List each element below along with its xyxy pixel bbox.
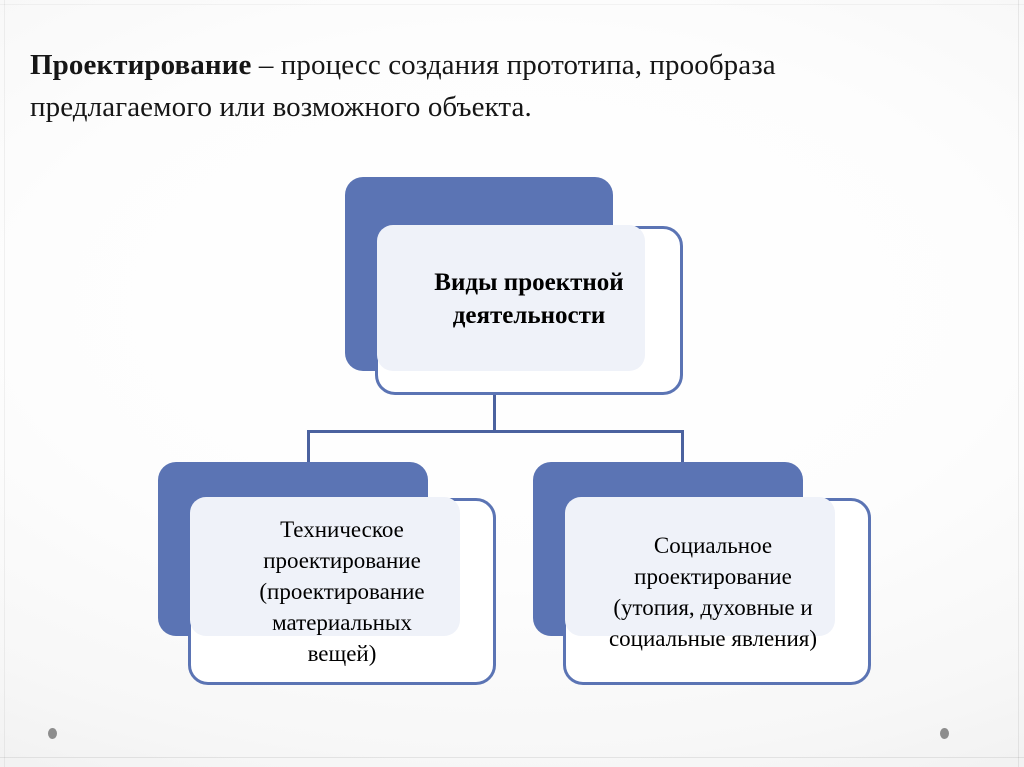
diagram-node-social-label: Социальное проектирование (утопия, духов… [555,500,871,683]
diagram-node-technical[interactable]: Техническое проектирование (проектирован… [158,462,500,689]
slide-heading: Проектирование – процесс создания протот… [30,44,830,128]
slide-canvas: Проектирование – процесс создания протот… [0,0,1024,767]
slide-frame-right-edge [1018,0,1019,767]
nav-dot-previous-icon[interactable] [48,728,57,739]
connector-drop-left [307,430,310,464]
slide-frame-top-edge [0,4,1024,5]
diagram-node-root[interactable]: Виды проектной деятельности [345,177,690,402]
diagram-node-root-label: Виды проектной деятельности [379,227,679,371]
nav-dot-next-icon[interactable] [940,728,949,739]
slide-frame-bottom-edge [0,757,1024,758]
connector-drop-right [681,430,684,464]
connector-horizontal-bar [307,430,684,433]
heading-term: Проектирование [30,49,251,81]
diagram-node-social[interactable]: Социальное проектирование (утопия, духов… [533,462,875,689]
diagram-node-technical-label: Техническое проектирование (проектирован… [192,500,492,683]
slide-frame-left-edge [4,0,5,767]
